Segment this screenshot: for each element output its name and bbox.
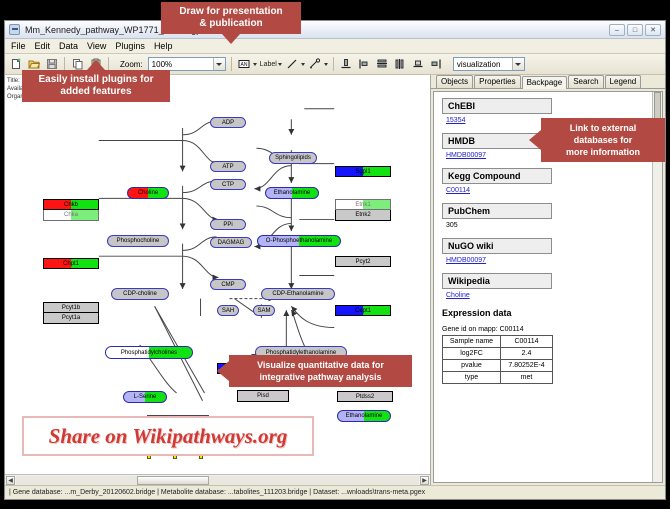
gene-node-cept1[interactable]: Cept1	[335, 305, 391, 316]
chevron-down-icon[interactable]	[253, 63, 257, 66]
chevron-down-icon[interactable]	[213, 58, 225, 70]
datanode-tool[interactable]: AN	[237, 57, 257, 72]
callout-text: Easily install plugins for added feature…	[38, 74, 153, 97]
menu-item-plugins[interactable]: Plugins	[115, 41, 145, 51]
node-label: CDP-Ethanolamine	[272, 291, 323, 297]
node-label: Sgpl1	[355, 169, 370, 175]
new-file-icon[interactable]	[8, 57, 23, 72]
canvas-horizontal-scrollbar[interactable]: ◀ ▶	[5, 474, 430, 485]
node-label: Ethanolamine	[274, 190, 311, 196]
gene-group-chk: Chkb Chka	[43, 199, 99, 221]
menu-item-edit[interactable]: Edit	[35, 41, 51, 51]
node-label: ADP	[222, 120, 234, 126]
metabolite-node-ethanolamine-lower[interactable]: Ethanolamine	[337, 410, 391, 422]
node-label: Phosphocholine	[117, 238, 160, 244]
gene-node-pcyt1a[interactable]: Pcyt1a	[43, 313, 99, 324]
node-label: CMP	[221, 282, 234, 288]
pathway-canvas[interactable]: Title: Availa Organi	[5, 75, 430, 474]
scroll-track[interactable]	[16, 476, 419, 485]
zoom-value: 100%	[152, 60, 172, 69]
callout-text: Draw for presentation & publication	[179, 6, 282, 29]
anchor-icon[interactable]	[308, 57, 323, 72]
label-tool[interactable]: Label	[260, 61, 282, 68]
metabolite-node-l-serine-left[interactable]: L-Serine	[123, 391, 167, 403]
line-icon[interactable]	[285, 57, 300, 72]
expression-data-heading: Expression data	[442, 308, 654, 318]
tab-legend[interactable]: Legend	[605, 75, 642, 88]
cofactor-node-dagmag-left[interactable]: DAGMAG	[210, 237, 252, 248]
align-left-icon[interactable]	[357, 57, 372, 72]
minimize-button[interactable]: –	[609, 24, 625, 36]
metabolite-node-ethanolamine[interactable]: Ethanolamine	[265, 187, 319, 199]
app-icon	[9, 24, 20, 35]
callout-arrow-down-icon	[222, 34, 240, 44]
table-row: log2FC 2.4	[443, 348, 553, 360]
node-label: Etnk2	[355, 212, 370, 218]
tab-properties[interactable]: Properties	[474, 75, 520, 88]
node-label: Pcyt1a	[62, 315, 80, 321]
cofactor-node-atp[interactable]: ATP	[210, 161, 246, 172]
metabolite-node-sphingolipids[interactable]: Sphingolipids	[269, 152, 317, 164]
gene-group-pcyt1: Pcyt1b Pcyt1a	[43, 302, 99, 324]
database-header-chebi: ChEBI	[442, 98, 552, 114]
node-label: Choline	[138, 190, 158, 196]
menu-item-data[interactable]: Data	[59, 41, 78, 51]
distribute-vertical-icon[interactable]	[375, 57, 390, 72]
scroll-left-arrow[interactable]: ◀	[6, 476, 15, 485]
callout-plugins: Easily install plugins for added feature…	[22, 70, 170, 102]
visualization-combo[interactable]: visualization	[453, 57, 525, 71]
node-label: Ethanolamine	[346, 413, 383, 419]
row-value: met	[501, 372, 553, 384]
callout-draw: Draw for presentation & publication	[161, 2, 301, 34]
node-label: CTP	[222, 182, 234, 188]
database-header-wikipedia: Wikipedia	[442, 273, 552, 289]
expression-data-table: Sample name C00114 log2FC 2.4 pvalue 7.8…	[442, 335, 553, 384]
database-link-kegg-compound[interactable]: C00114	[446, 187, 654, 194]
node-label: DAGMAG	[218, 240, 245, 246]
menu-item-file[interactable]: File	[11, 41, 26, 51]
node-label: Pcyt1b	[62, 305, 80, 311]
row-value: C00114	[501, 336, 553, 348]
share-text: Share on Wikipathways.org	[49, 424, 288, 449]
callout-arrow-up-icon	[87, 60, 105, 70]
tab-objects[interactable]: Objects	[436, 75, 473, 88]
node-label: O-Phosphoethanolamine	[266, 238, 332, 244]
gene-node-chpt1[interactable]: Chpt1	[43, 258, 99, 269]
cofactor-node-sam[interactable]: SAM	[253, 305, 275, 316]
menu-item-view[interactable]: View	[87, 41, 106, 51]
align-center-icon[interactable]	[411, 57, 426, 72]
callout-links: Link to external databases for more info…	[541, 118, 665, 162]
close-button[interactable]: ✕	[645, 24, 661, 36]
toolbar-separator	[64, 57, 65, 71]
callout-arrow-left-icon	[217, 361, 229, 381]
gene-node-chka[interactable]: Chka	[43, 210, 99, 221]
chevron-down-icon[interactable]	[512, 58, 524, 70]
node-label: Chka	[64, 212, 78, 218]
database-value-pubchem: 305	[446, 222, 654, 229]
anchor-tool[interactable]	[308, 57, 328, 72]
label-tool-text: Label	[260, 61, 277, 68]
callout-arrow-left-icon	[529, 130, 541, 150]
svg-text:AN: AN	[241, 62, 248, 68]
table-row: pvalue 7.80252E-4	[443, 360, 553, 372]
status-bar-text: | Gene database: ...m_Derby_20120602.bri…	[9, 489, 425, 496]
side-panel-tabs: Objects Properties Backpage Search Legen…	[431, 75, 665, 89]
distribute-horizontal-icon[interactable]	[393, 57, 408, 72]
table-row: type met	[443, 372, 553, 384]
gene-node-sgpl1[interactable]: Sgpl1	[335, 166, 391, 177]
node-label: Chkb	[64, 202, 78, 208]
title-bar: Mm_Kennedy_pathway_WP1771_45176.gpml – □…	[5, 21, 665, 39]
row-key: pvalue	[443, 360, 501, 372]
node-label: Sphingolipids	[275, 155, 311, 161]
chevron-down-icon[interactable]	[324, 63, 328, 66]
row-key: type	[443, 372, 501, 384]
chevron-down-icon[interactable]	[278, 63, 282, 66]
database-header-kegg-compound: Kegg Compound	[442, 168, 552, 184]
metabolite-node-cdp-choline[interactable]: CDP-choline	[111, 288, 169, 300]
status-bar: | Gene database: ...m_Derby_20120602.bri…	[5, 485, 665, 499]
node-label: L-Serine	[134, 394, 157, 400]
zoom-combo[interactable]: 100%	[148, 57, 226, 71]
gene-id-line: Gene id on mapp: C00114	[442, 326, 654, 333]
scroll-thumb[interactable]	[137, 476, 210, 485]
cofactor-node-sah[interactable]: SAH	[217, 305, 239, 316]
align-bottom-icon[interactable]	[339, 57, 354, 72]
callout-share: Share on Wikipathways.org	[22, 416, 314, 456]
database-link-wikipedia[interactable]: Choline	[446, 292, 654, 299]
gene-node-etnk1[interactable]: Etnk1	[335, 199, 391, 210]
cofactor-node-ctp[interactable]: CTP	[210, 179, 246, 190]
database-header-pubchem: PubChem	[442, 203, 552, 219]
datanode-icon[interactable]: AN	[237, 57, 252, 72]
gene-node-pcyt1b[interactable]: Pcyt1b	[43, 302, 99, 313]
gene-node-ptdss2[interactable]: Ptdss2	[337, 391, 393, 402]
row-key: log2FC	[443, 348, 501, 360]
menu-bar: File Edit Data View Plugins Help	[5, 39, 665, 54]
table-row: Sample name C00114	[443, 336, 553, 348]
cofactor-node-cmp-left[interactable]: CMP	[210, 279, 246, 290]
database-header-nugo-wiki: NuGO wiki	[442, 238, 552, 254]
gene-node-pcyt2[interactable]: Pcyt2	[335, 256, 391, 267]
metabolite-node-cdp-ethanolamine[interactable]: CDP-Ethanolamine	[261, 288, 335, 300]
tab-search[interactable]: Search	[568, 75, 603, 88]
callout-visualize: Visualize quantitative data for integrat…	[229, 355, 412, 387]
gene-node-chkb[interactable]: Chkb	[43, 199, 99, 210]
metabolite-node-o-phosphoethanolamine[interactable]: O-Phosphoethanolamine	[257, 235, 341, 247]
gene-node-pisd[interactable]: Pisd	[237, 390, 289, 402]
toolbar-separator	[231, 57, 232, 71]
scroll-right-arrow[interactable]: ▶	[420, 476, 429, 485]
node-label: Chpt1	[63, 261, 79, 267]
window-controls[interactable]: – □ ✕	[609, 24, 661, 36]
tab-backpage[interactable]: Backpage	[522, 76, 568, 89]
row-value: 7.80252E-4	[501, 360, 553, 372]
callout-text: Link to external databases for more info…	[566, 123, 640, 157]
menu-item-help[interactable]: Help	[154, 41, 173, 51]
toolbar-separator	[333, 57, 334, 71]
metabolite-node-choline[interactable]: Choline	[127, 187, 169, 199]
cofactor-node-ppi[interactable]: PPi	[210, 219, 246, 230]
node-label: Etnk1	[355, 202, 370, 208]
database-link-nugo-wiki[interactable]: HMDB00097	[446, 257, 654, 264]
node-label: SAM	[257, 308, 270, 314]
metabolite-node-phosphocholine[interactable]: Phosphocholine	[107, 235, 169, 247]
row-key: Sample name	[443, 336, 501, 348]
toolbar-separator	[108, 57, 109, 71]
metabolite-node-phosphatidylcholines[interactable]: Phosphatidylcholines	[105, 346, 193, 359]
visualization-value: visualization	[457, 60, 501, 69]
cofactor-node-adp[interactable]: ADP	[210, 117, 246, 128]
node-label: CDP-choline	[123, 291, 157, 297]
gene-node-etnk2[interactable]: Etnk2	[335, 210, 391, 221]
chevron-down-icon[interactable]	[301, 63, 305, 66]
node-label: Pcyt2	[355, 259, 370, 265]
row-value: 2.4	[501, 348, 553, 360]
node-label: Phosphatidylcholines	[121, 350, 177, 356]
zoom-label: Zoom:	[120, 60, 143, 69]
align-right-icon[interactable]	[429, 57, 444, 72]
maximize-button[interactable]: □	[627, 24, 643, 36]
node-label: PPi	[223, 222, 232, 228]
node-label: Pisd	[257, 393, 269, 399]
callout-text: Visualize quantitative data for integrat…	[257, 360, 384, 382]
node-label: Cept1	[355, 308, 371, 314]
node-label: Ptdss2	[356, 394, 374, 400]
line-tool[interactable]	[285, 57, 305, 72]
node-label: ATP	[222, 164, 233, 170]
gene-group-etnk: Etnk1 Etnk2	[335, 199, 391, 221]
node-label: SAH	[222, 308, 234, 314]
